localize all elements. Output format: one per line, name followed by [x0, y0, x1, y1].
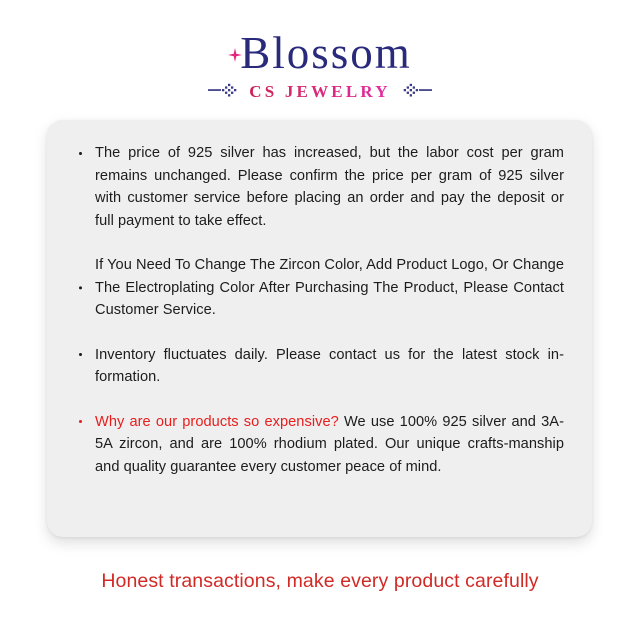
diamond-ornament-right-icon — [398, 82, 432, 103]
notice-list: The price of 925 silver has increased, b… — [77, 142, 564, 478]
sparkle-icon — [228, 48, 242, 62]
list-item: Inventory fluctuates daily. Please conta… — [77, 344, 564, 389]
sub-brand-row: CS JEWELRY — [0, 81, 640, 103]
bullet-icon — [79, 286, 82, 289]
sub-brand-name: CS JEWELRY — [249, 81, 390, 103]
note-highlight: Why are our products so expensive? — [95, 414, 339, 430]
list-item: Why are our products so expensive? We us… — [77, 411, 564, 479]
brand-name: Blossom — [240, 28, 412, 78]
list-item: The price of 925 silver has increased, b… — [77, 142, 564, 232]
list-item: If You Need To Change The Zircon Color, … — [77, 254, 564, 322]
note-text: If You Need To Change The Zircon Color, … — [95, 257, 564, 318]
notice-card: The price of 925 silver has increased, b… — [47, 120, 592, 537]
note-text: Inventory fluctuates daily. Please conta… — [95, 347, 564, 386]
diamond-ornament-left-icon — [208, 82, 242, 103]
brand-header: Blossom CS JEWELRY — [0, 28, 640, 103]
bullet-icon — [79, 353, 82, 356]
bullet-icon — [79, 420, 82, 423]
note-text: The price of 925 silver has increased, b… — [95, 145, 564, 229]
footer-tagline: Honest transactions, make every product … — [0, 567, 640, 595]
brand-name-row: Blossom — [0, 28, 640, 78]
bullet-icon — [79, 152, 82, 155]
